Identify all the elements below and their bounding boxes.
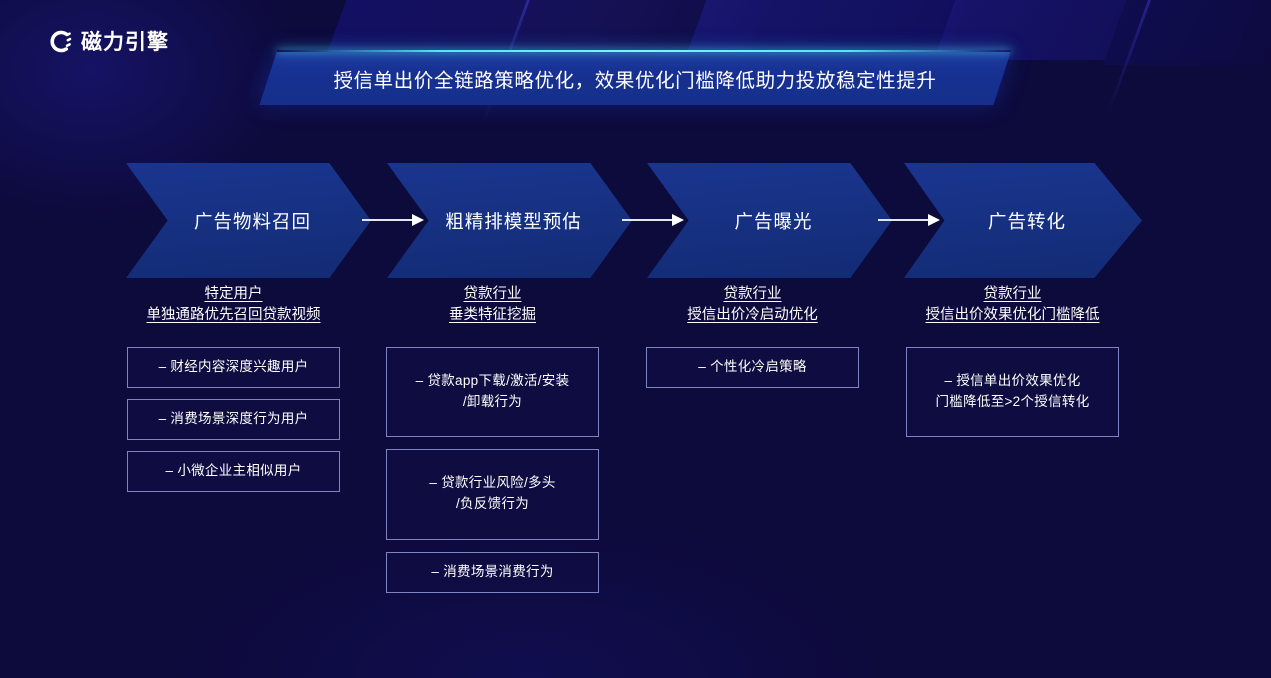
column-4: 贷款行业 授信出价效果优化门槛降低 – 授信单出价效果优化 门槛降低至>2个授信… [906,284,1119,437]
brand-logo: 磁力引擎 [47,26,169,56]
column-1-items: – 财经内容深度兴趣用户 – 消费场景深度行为用户 – 小微企业主相似用户 [127,347,340,492]
flow-step-1-label: 广告物料召回 [194,208,311,234]
flow-step-4-label: 广告转化 [988,208,1066,234]
title-banner: 授信单出价全链路策略优化，效果优化门槛降低助力投放稳定性提升 [259,52,1010,105]
list-item[interactable]: – 贷款行业风险/多头 /负反馈行为 [386,449,599,540]
magnetic-c-icon [47,29,72,54]
column-1: 特定用户 单独通路优先召回贷款视频 – 财经内容深度兴趣用户 – 消费场景深度行… [127,284,340,492]
list-item[interactable]: – 授信单出价效果优化 门槛降低至>2个授信转化 [906,347,1119,437]
page-title: 授信单出价全链路策略优化，效果优化门槛降低助力投放稳定性提升 [268,52,1002,105]
flow-step-2[interactable]: 粗精排模型预估 [387,163,632,278]
column-2: 贷款行业 垂类特征挖掘 – 贷款app下载/激活/安装 /卸载行为 – 贷款行业… [386,284,599,593]
column-2-heading-line1: 贷款行业 [386,284,599,305]
column-1-heading-line1: 特定用户 [127,284,340,305]
column-4-items: – 授信单出价效果优化 门槛降低至>2个授信转化 [906,347,1119,437]
column-4-heading-line2: 授信出价效果优化门槛降低 [906,305,1119,326]
process-flow: 广告物料召回 粗精排模型预估 广告曝光 广告转化 [0,163,1271,278]
column-4-heading-line1: 贷款行业 [906,284,1119,305]
flow-step-3-label: 广告曝光 [734,208,812,234]
column-3-heading: 贷款行业 授信出价冷启动优化 [646,284,859,327]
column-3: 贷款行业 授信出价冷启动优化 – 个性化冷启策略 [646,284,859,388]
list-item[interactable]: – 财经内容深度兴趣用户 [127,347,340,388]
column-3-items: – 个性化冷启策略 [646,347,859,388]
list-item[interactable]: – 贷款app下载/激活/安装 /卸载行为 [386,347,599,437]
brand-logo-text: 磁力引擎 [81,26,169,56]
column-2-items: – 贷款app下载/激活/安装 /卸载行为 – 贷款行业风险/多头 /负反馈行为… [386,347,599,593]
column-2-heading-line2: 垂类特征挖掘 [386,305,599,326]
column-1-heading: 特定用户 单独通路优先召回贷款视频 [127,284,340,327]
column-4-heading: 贷款行业 授信出价效果优化门槛降低 [906,284,1119,327]
background-band-4 [1103,0,1271,65]
list-item[interactable]: – 消费场景深度行为用户 [127,399,340,440]
column-3-heading-line2: 授信出价冷启动优化 [646,305,859,326]
list-item[interactable]: – 个性化冷启策略 [646,347,859,388]
column-3-heading-line1: 贷款行业 [646,284,859,305]
flow-step-2-label: 粗精排模型预估 [445,208,582,234]
background-streak-2 [1106,0,1153,115]
column-1-heading-line2: 单独通路优先召回贷款视频 [127,305,340,326]
column-2-heading: 贷款行业 垂类特征挖掘 [386,284,599,327]
flow-step-4[interactable]: 广告转化 [904,163,1142,278]
list-item[interactable]: – 消费场景消费行为 [386,552,599,593]
list-item[interactable]: – 小微企业主相似用户 [127,451,340,492]
flow-step-1[interactable]: 广告物料召回 [126,163,371,278]
flow-step-3[interactable]: 广告曝光 [647,163,892,278]
background-band-2 [686,0,973,55]
